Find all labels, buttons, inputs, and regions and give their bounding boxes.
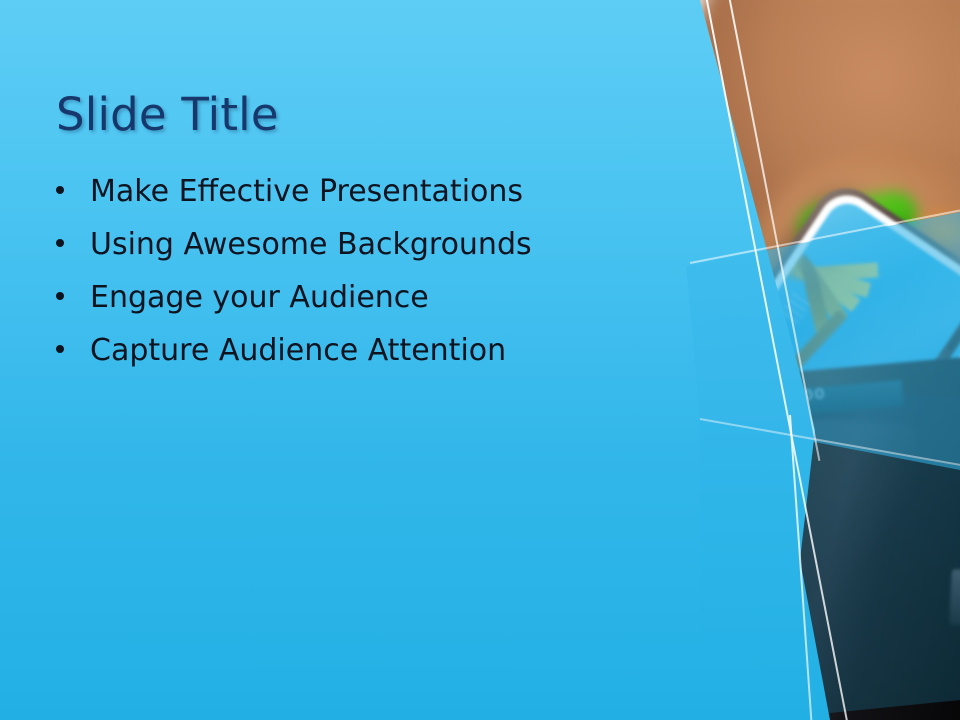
list-item[interactable]: Capture Audience Attention [56,332,656,370]
list-item[interactable]: Engage your Audience [56,279,656,317]
list-item-label: Capture Audience Attention [90,332,506,370]
list-item-label: Make Effective Presentations [90,173,523,211]
card-terminal: 00 [729,386,960,720]
list-item[interactable]: Using Awesome Backgrounds [56,226,656,264]
slide: BANK 00 [0,0,960,720]
slide-content: Slide Title Make Effective Presentations… [0,0,700,720]
page-title[interactable]: Slide Title [56,88,279,141]
bullet-dot-icon [56,186,64,194]
bullet-dot-icon [56,292,64,300]
list-item[interactable]: Make Effective Presentations [56,173,656,211]
list-item-label: Using Awesome Backgrounds [90,226,532,264]
bullet-dot-icon [56,345,64,353]
bullet-list: Make Effective Presentations Using Aweso… [56,173,656,385]
terminal-display-text: 00 [802,385,826,405]
terminal-card-slot [949,569,960,626]
bullet-dot-icon [56,239,64,247]
list-item-label: Engage your Audience [90,279,429,317]
screen-text-lines [778,293,811,327]
terminal-sheen [742,417,917,720]
